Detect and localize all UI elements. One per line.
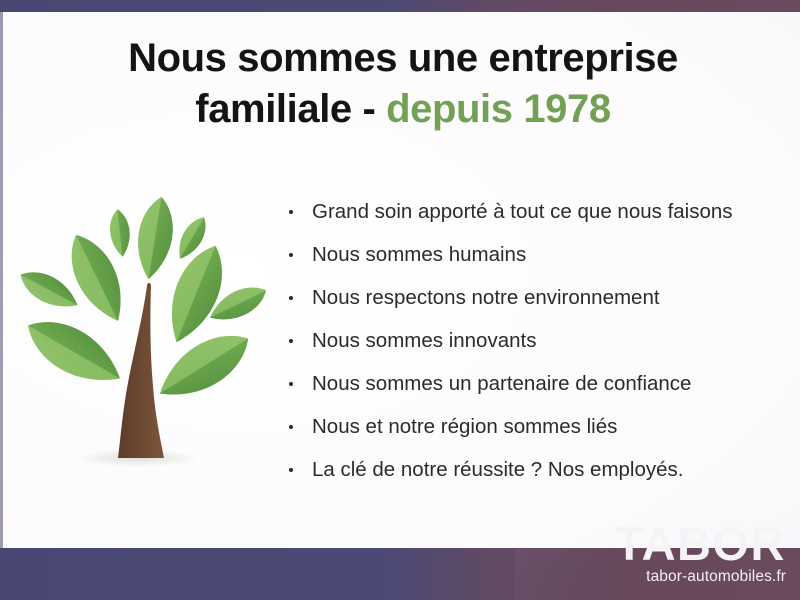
list-item: La clé de notre réussite ? Nos employés. (286, 448, 786, 491)
list-item: Nous respectons notre environnement (286, 276, 786, 319)
bullet-dot-icon (289, 425, 293, 429)
bullet-dot-icon (289, 210, 293, 214)
list-item: Nous et notre région sommes liés (286, 405, 786, 448)
list-item: Grand soin apporté à tout ce que nous fa… (286, 190, 786, 233)
top-brand-band (0, 0, 800, 12)
headline-line-1: Nous sommes une entreprise (128, 36, 678, 80)
value-proposition-list: Grand soin apporté à tout ce que nous fa… (286, 190, 786, 491)
headline-accent: depuis 1978 (386, 87, 611, 131)
brand-website-url: tabor-automobiles.fr (615, 568, 786, 586)
page-title: Nous sommes une entreprise familiale - d… (58, 33, 748, 135)
bullet-dot-icon (289, 468, 293, 472)
list-item-label: Nous et notre région sommes liés (312, 415, 617, 438)
list-item: Nous sommes innovants (286, 319, 786, 362)
bullet-dot-icon (289, 296, 293, 300)
bullet-dot-icon (289, 382, 293, 386)
list-item-label: Nous sommes un partenaire de confiance (312, 372, 691, 395)
bullet-dot-icon (289, 339, 293, 343)
tree-trunk (118, 283, 164, 458)
list-item-label: Nous sommes innovants (312, 329, 536, 352)
list-item: Nous sommes humains (286, 233, 786, 276)
tree-illustration (14, 186, 276, 486)
slide-canvas: Nous sommes une entreprise familiale - d… (0, 0, 800, 600)
list-item-label: La clé de notre réussite ? Nos employés. (312, 458, 683, 481)
brand-logo: TABOR tabor-automobiles.fr (615, 521, 786, 586)
list-item-label: Nous respectons notre environnement (312, 286, 660, 309)
left-edge-accent (0, 12, 3, 548)
bullet-dot-icon (289, 253, 293, 257)
headline-line-2-main: familiale - (195, 87, 386, 131)
list-item: Nous sommes un partenaire de confiance (286, 362, 786, 405)
list-item-label: Grand soin apporté à tout ce que nous fa… (312, 200, 733, 223)
brand-wordmark: TABOR (615, 521, 786, 566)
list-item-label: Nous sommes humains (312, 243, 526, 266)
